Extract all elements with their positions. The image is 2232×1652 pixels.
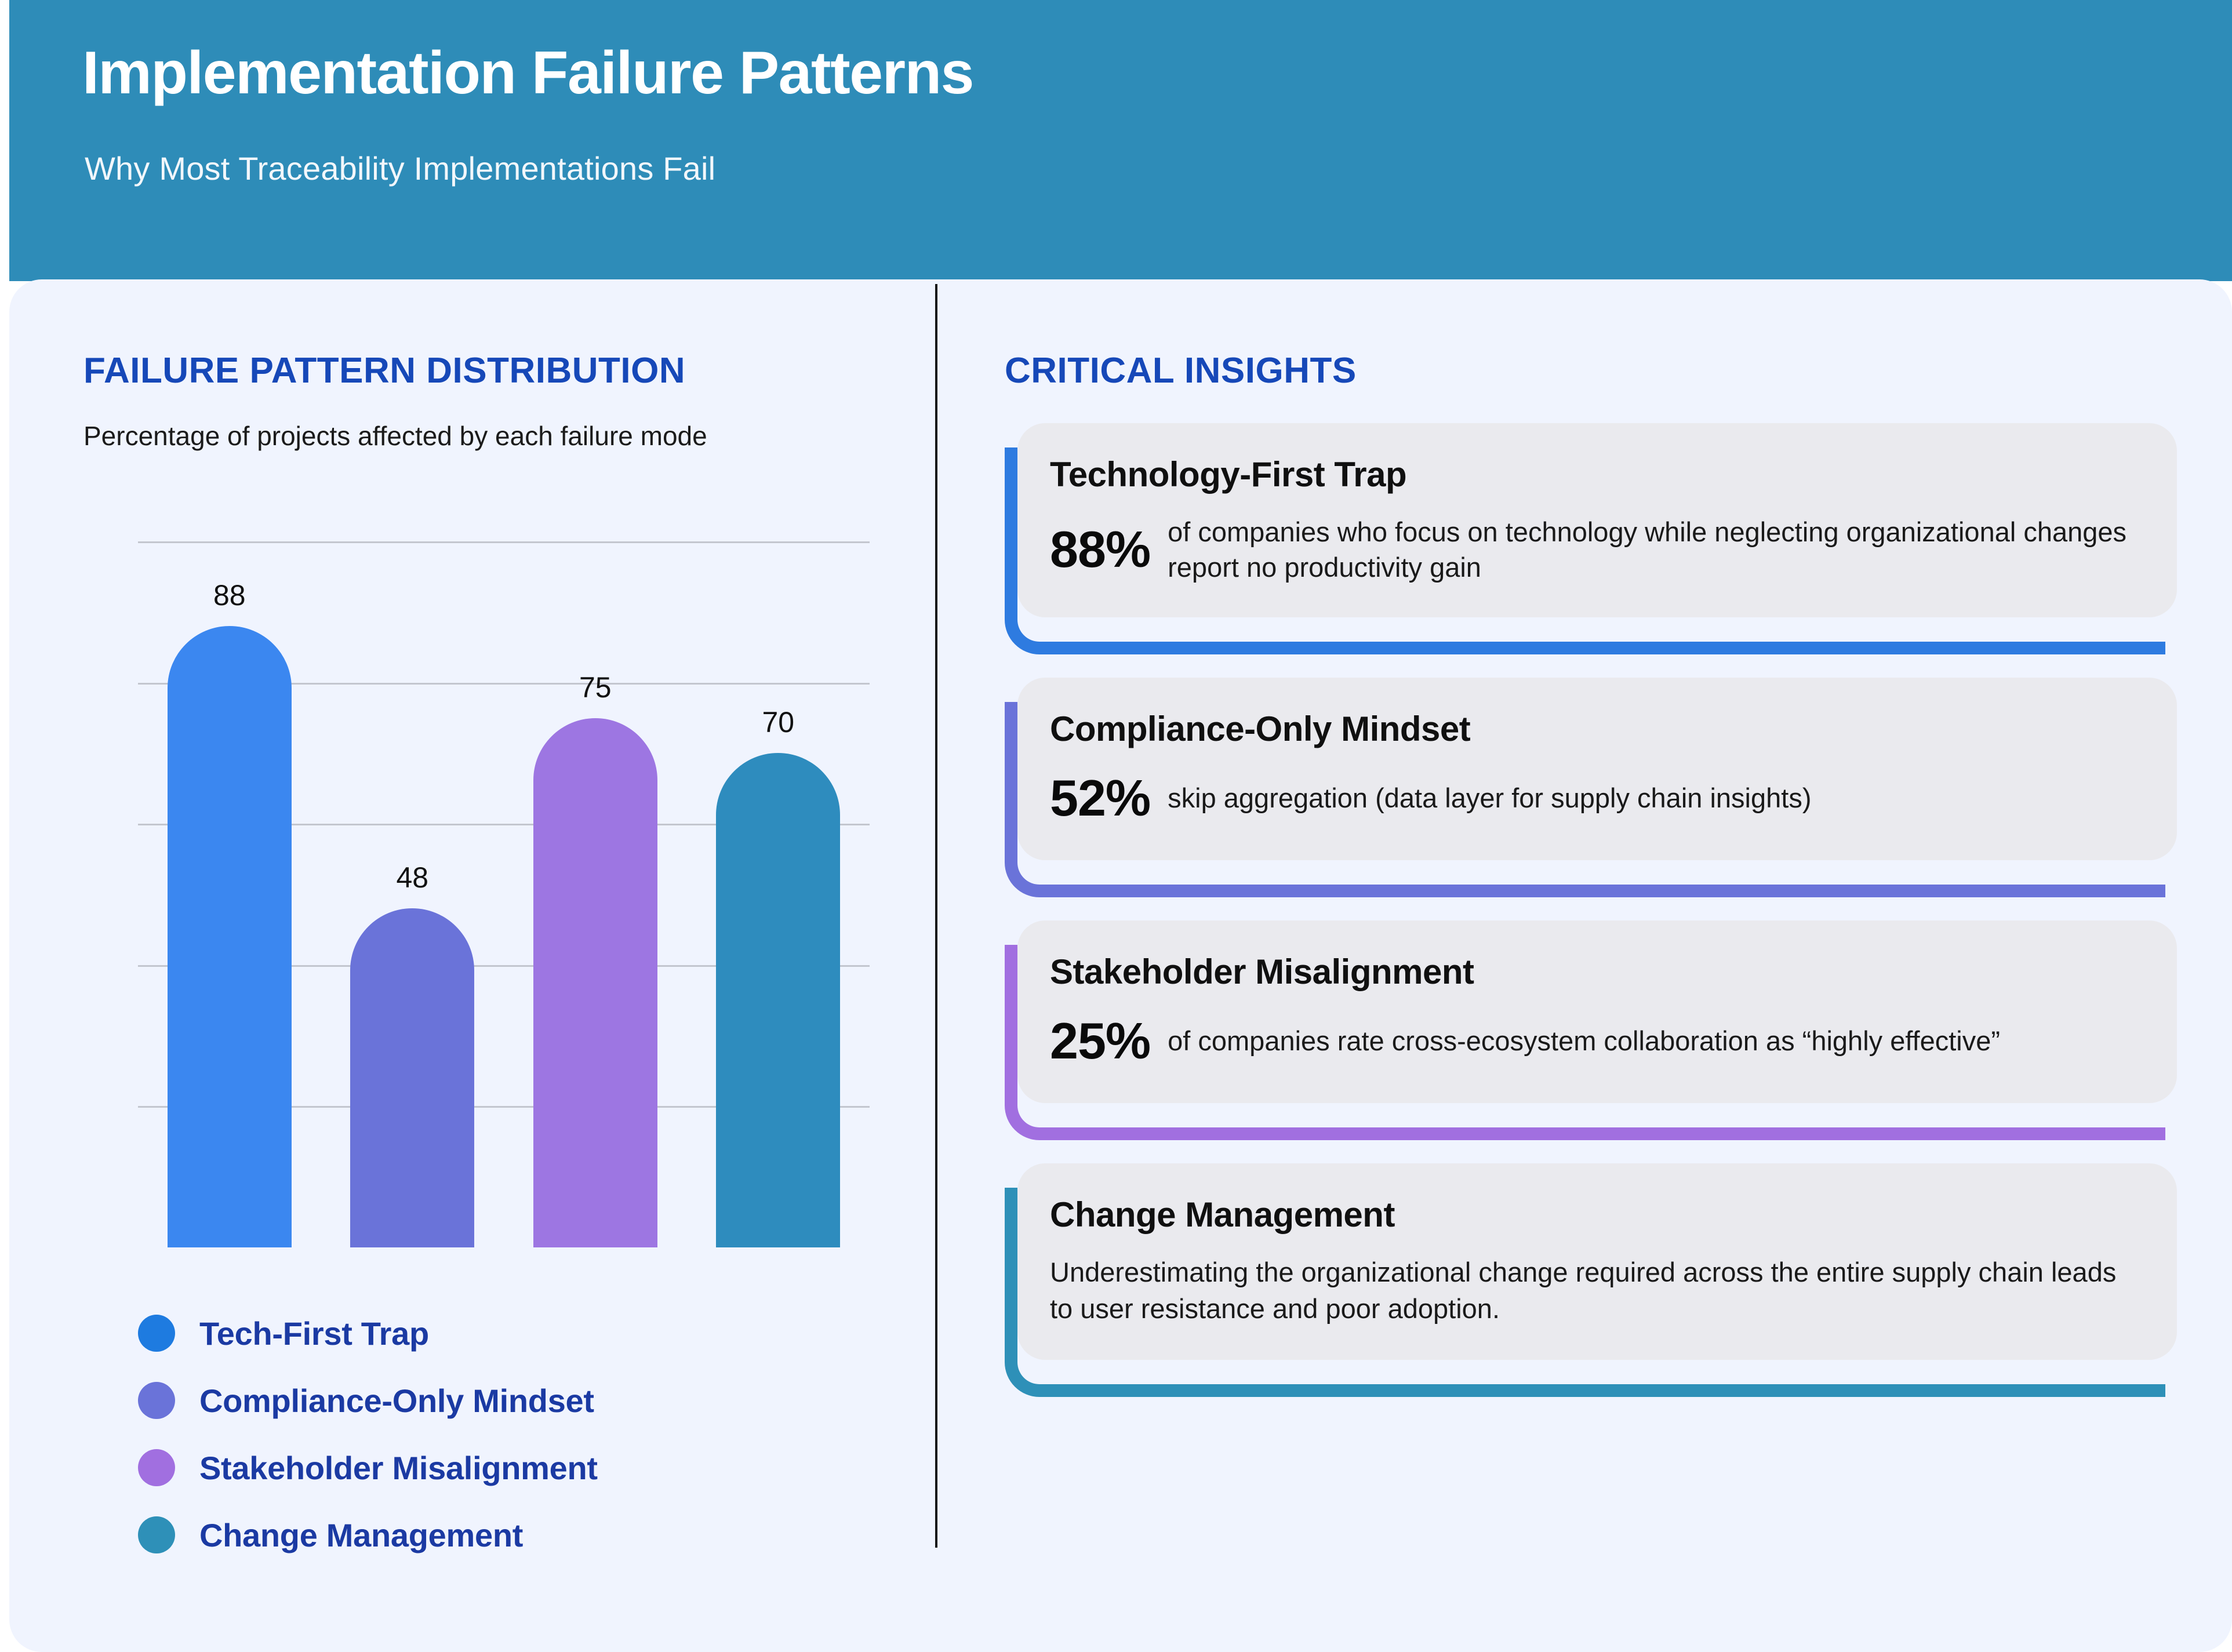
card-description: of companies rate cross-ecosystem collab… xyxy=(1168,1023,2000,1058)
card-title: Technology-First Trap xyxy=(1050,454,2144,494)
card-surface: Stakeholder Misalignment25%of companies … xyxy=(1017,920,2177,1103)
card-content: Compliance-Only Mindset52%skip aggregati… xyxy=(1017,678,2177,860)
legend-color-dot-icon xyxy=(138,1315,175,1352)
bar-value-label: 75 xyxy=(533,671,657,704)
bar-value-label: 88 xyxy=(168,578,292,612)
card-body-text: Underestimating the organizational chang… xyxy=(1050,1254,2144,1327)
chart-legend: Tech-First TrapCompliance-Only MindsetSt… xyxy=(138,1300,598,1569)
bar-value-label: 70 xyxy=(716,705,840,739)
failure-distribution-subtitle: Percentage of projects affected by each … xyxy=(83,419,826,454)
bar-value-label: 48 xyxy=(350,861,474,894)
legend-item[interactable]: Stakeholder Misalignment xyxy=(138,1434,598,1501)
bar-slot: 75 xyxy=(533,541,657,1247)
card-content: Stakeholder Misalignment25%of companies … xyxy=(1017,920,2177,1103)
insight-card[interactable]: Compliance-Only Mindset52%skip aggregati… xyxy=(1005,678,2177,897)
card-surface: Change ManagementUnderestimating the org… xyxy=(1017,1163,2177,1360)
card-description: of companies who focus on technology whi… xyxy=(1168,514,2144,585)
bar xyxy=(168,626,292,1247)
bar xyxy=(533,718,657,1248)
page-header: Implementation Failure Patterns Why Most… xyxy=(9,0,2232,281)
legend-label: Tech-First Trap xyxy=(199,1315,429,1352)
bar-slot: 48 xyxy=(350,541,474,1247)
insight-card[interactable]: Stakeholder Misalignment25%of companies … xyxy=(1005,920,2177,1140)
critical-insights-heading: CRITICAL INSIGHTS xyxy=(1005,350,1357,391)
insight-card[interactable]: Technology-First Trap88%of companies who… xyxy=(1005,423,2177,654)
legend-item[interactable]: Tech-First Trap xyxy=(138,1300,598,1367)
card-surface: Compliance-Only Mindset52%skip aggregati… xyxy=(1017,678,2177,860)
right-panel: CRITICAL INSIGHTS Technology-First Trap8… xyxy=(935,279,2232,1652)
card-title: Change Management xyxy=(1050,1195,2144,1235)
legend-color-dot-icon xyxy=(138,1516,175,1553)
card-title: Compliance-Only Mindset xyxy=(1050,709,2144,749)
card-stat-row: 52%skip aggregation (data layer for supp… xyxy=(1050,769,2144,828)
card-percent-value: 25% xyxy=(1050,1011,1150,1071)
chart-bars: 88487570 xyxy=(138,541,870,1247)
page-subtitle: Why Most Traceability Implementations Fa… xyxy=(85,150,715,187)
legend-color-dot-icon xyxy=(138,1382,175,1419)
card-stat-row: 88%of companies who focus on technology … xyxy=(1050,514,2144,585)
bar-slot: 70 xyxy=(716,541,840,1247)
bar xyxy=(350,908,474,1247)
legend-label: Compliance-Only Mindset xyxy=(199,1382,594,1420)
bar xyxy=(716,753,840,1247)
card-title: Stakeholder Misalignment xyxy=(1050,952,2144,992)
page-title: Implementation Failure Patterns xyxy=(82,42,973,105)
bar-chart: 88487570 xyxy=(138,541,870,1247)
card-surface: Technology-First Trap88%of companies who… xyxy=(1017,423,2177,617)
bar-slot: 88 xyxy=(168,541,292,1247)
card-content: Technology-First Trap88%of companies who… xyxy=(1017,423,2177,617)
card-description: skip aggregation (data layer for supply … xyxy=(1168,780,1811,816)
insight-card-list: Technology-First Trap88%of companies who… xyxy=(1005,423,2177,1420)
insight-card[interactable]: Change ManagementUnderestimating the org… xyxy=(1005,1163,2177,1397)
card-percent-value: 52% xyxy=(1050,769,1150,828)
failure-distribution-heading: FAILURE PATTERN DISTRIBUTION xyxy=(83,350,685,391)
legend-color-dot-icon xyxy=(138,1449,175,1486)
left-panel: FAILURE PATTERN DISTRIBUTION Percentage … xyxy=(9,279,937,1652)
legend-label: Change Management xyxy=(199,1516,523,1554)
legend-item[interactable]: Compliance-Only Mindset xyxy=(138,1367,598,1434)
card-content: Change ManagementUnderestimating the org… xyxy=(1017,1163,2177,1360)
card-percent-value: 88% xyxy=(1050,520,1150,579)
infographic-page: Implementation Failure Patterns Why Most… xyxy=(0,0,2232,1652)
legend-label: Stakeholder Misalignment xyxy=(199,1449,598,1487)
legend-item[interactable]: Change Management xyxy=(138,1501,598,1569)
card-stat-row: 25%of companies rate cross-ecosystem col… xyxy=(1050,1011,2144,1071)
